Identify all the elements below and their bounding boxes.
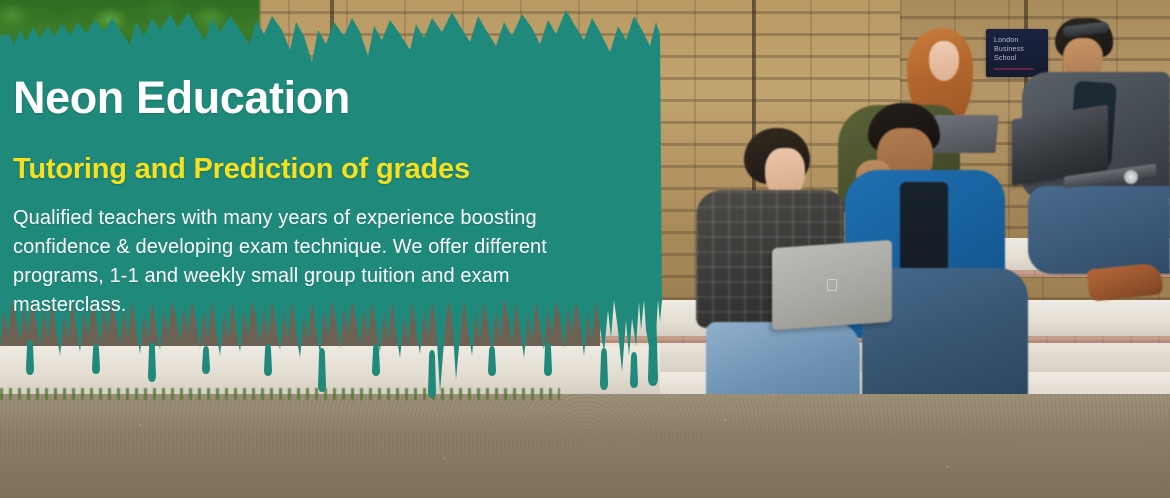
person-ginger-face bbox=[929, 41, 959, 81]
apple-logo-icon:  bbox=[824, 277, 840, 295]
page-title: Neon Education bbox=[13, 74, 640, 121]
london-business-school-sign: London Business School bbox=[986, 29, 1048, 77]
hero-banner: London Business School bbox=[0, 0, 1170, 498]
sign-line-1: London bbox=[994, 36, 1048, 45]
sign-line-2: Business bbox=[994, 45, 1048, 54]
person-right-jeans bbox=[1028, 186, 1170, 274]
banner-copy: Neon Education Tutoring and Prediction o… bbox=[0, 0, 640, 320]
page-subtitle: Tutoring and Prediction of grades bbox=[13, 153, 640, 185]
sign-line-3: School bbox=[994, 54, 1048, 63]
sign-underline bbox=[994, 68, 1034, 70]
banner-description: Qualified teachers with many years of ex… bbox=[13, 204, 588, 320]
laptop-ginger bbox=[931, 115, 998, 153]
wristwatch-icon bbox=[1124, 170, 1138, 184]
